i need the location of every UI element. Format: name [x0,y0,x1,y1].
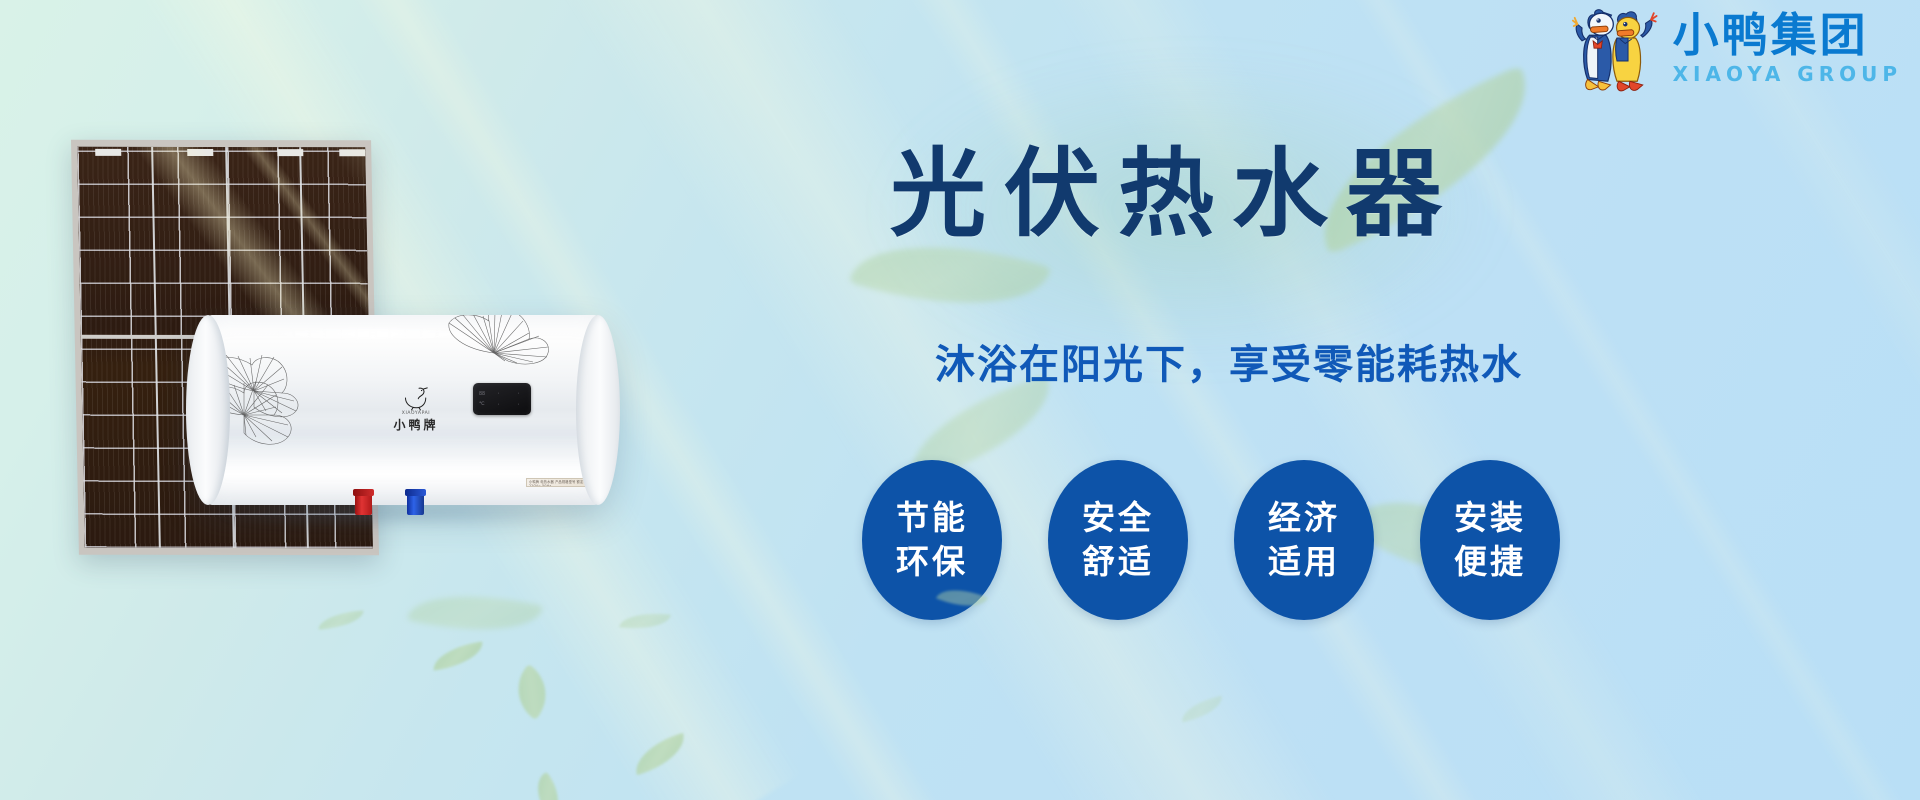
feature-badge-easy-install[interactable]: 安装 便捷 [1420,460,1560,620]
brand-name-en: XIAOYA GROUP [1673,60,1902,88]
promo-banner: XIAOYAPAI 小鸭牌 88 ℃ · · · · 小鸭牌 电热水器 产品规格… [0,0,1920,800]
badge-line-2: 适用 [1268,540,1340,584]
valve-cap [353,489,374,496]
page-title: 光伏热水器 [890,146,1460,242]
floral-decoration-icon [433,315,555,387]
sun-ray [1300,0,1920,800]
duck-mascot-pair-icon [1571,4,1663,96]
badge-line-2: 舒适 [1082,540,1154,584]
solar-tab [187,149,213,156]
feature-badge-energy-saving[interactable]: 节能 环保 [862,460,1002,620]
feature-badge-economical[interactable]: 经济 适用 [1234,460,1374,620]
display-indicator: · [517,391,520,397]
solar-tab [95,149,121,156]
brand-logo[interactable]: 小鸭集团 XIAOYA GROUP [1571,4,1902,96]
product-brand-mark: XIAOYAPAI 小鸭牌 [384,385,448,433]
leaf-decoration [527,772,569,800]
feature-badge-list: 节能 环保 安全 舒适 经济 适用 安装 便捷 [862,460,1560,620]
sun-ray [980,0,1920,800]
leaf-decoration [407,579,543,647]
leaf-decoration [504,664,560,720]
badge-line-1: 安装 [1454,496,1526,540]
leaf-decoration [1179,696,1226,723]
badge-line-1: 安全 [1082,496,1154,540]
leaf-decoration [317,610,364,629]
sun-ray [560,0,1538,800]
page-subtitle: 沐浴在阳光下，享受零能耗热水 [935,345,1523,385]
solar-tab [277,149,303,156]
heater-control-display[interactable]: 88 ℃ · · · · [473,383,531,415]
tank-body: XIAOYAPAI 小鸭牌 88 ℃ · · · · 小鸭牌 电热水器 产品规格… [188,315,618,505]
tank-end-cap-left [186,315,230,505]
feature-badge-safe-comfort[interactable]: 安全 舒适 [1048,460,1188,620]
cold-water-valve [407,493,424,515]
leaf-decoration [431,641,486,670]
sun-ray [700,0,1738,800]
display-readout-bottom: ℃ [479,401,485,407]
product-brand-cn: 小鸭牌 [384,416,448,433]
brand-name-cn: 小鸭集团 [1673,12,1869,58]
display-indicator: · [497,391,500,397]
solar-tab [339,149,365,156]
tank-highlight [248,329,498,339]
hot-water-valve [355,493,372,515]
brand-wordmark: 小鸭集团 XIAOYA GROUP [1673,12,1902,88]
display-indicator: · [497,402,500,408]
badge-line-2: 环保 [896,540,968,584]
tank-end-cap-right [576,315,620,505]
badge-line-1: 经济 [1268,496,1340,540]
leaf-decoration [629,733,691,775]
valve-cap [405,489,426,496]
tank-shading [188,427,618,467]
water-heater-product: XIAOYAPAI 小鸭牌 88 ℃ · · · · 小鸭牌 电热水器 产品规格… [188,315,618,505]
duck-logo-icon [401,385,431,411]
display-indicator: · [517,402,520,408]
badge-line-2: 便捷 [1454,540,1526,584]
leaf-decoration [619,609,671,632]
display-readout-top: 88 [479,391,485,397]
badge-line-1: 节能 [896,496,968,540]
